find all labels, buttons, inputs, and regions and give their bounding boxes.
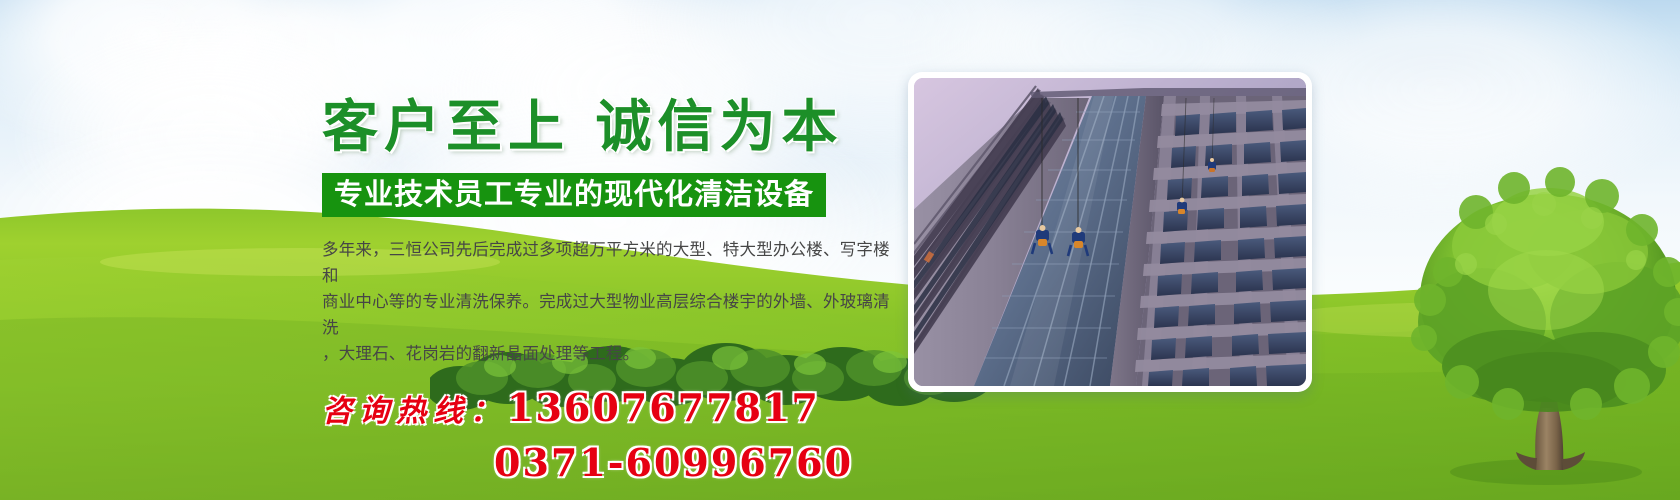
phone-mobile[interactable]: 13607677817 xyxy=(507,385,820,430)
phone-landline[interactable]: 0371-60996760 xyxy=(494,440,922,485)
promo-banner: 客户至上 诚信为本 专业技术员工专业的现代化清洁设备 多年来，三恒公司先后完成过… xyxy=(0,0,1680,500)
hotline-primary-row: 咨询热线： 13607677817 xyxy=(322,385,922,430)
building-photo xyxy=(914,78,1306,386)
hotline-block: 咨询热线： 13607677817 0371-60996760 xyxy=(322,385,922,485)
copy-block: 客户至上 诚信为本 专业技术员工专业的现代化清洁设备 多年来，三恒公司先后完成过… xyxy=(322,96,922,485)
hotline-label: 咨询热线： xyxy=(322,386,507,430)
description-line-2: 商业中心等的专业清洗保养。完成过大型物业高层综合楼宇的外墙、外玻璃清洗 xyxy=(322,289,892,341)
slogan-bar: 专业技术员工专业的现代化清洁设备 xyxy=(322,173,826,217)
description-line-3: ，大理石、花岗岩的翻新晶面处理等工程。 xyxy=(322,341,892,367)
page-title: 客户至上 诚信为本 xyxy=(322,96,922,159)
description-paragraph: 多年来，三恒公司先后完成过多项超万平方米的大型、特大型办公楼、写字楼和 商业中心… xyxy=(322,237,892,367)
description-line-1: 多年来，三恒公司先后完成过多项超万平方米的大型、特大型办公楼、写字楼和 xyxy=(322,237,892,289)
cloud-shadow xyxy=(460,0,760,100)
building-photo-frame[interactable] xyxy=(908,72,1312,392)
